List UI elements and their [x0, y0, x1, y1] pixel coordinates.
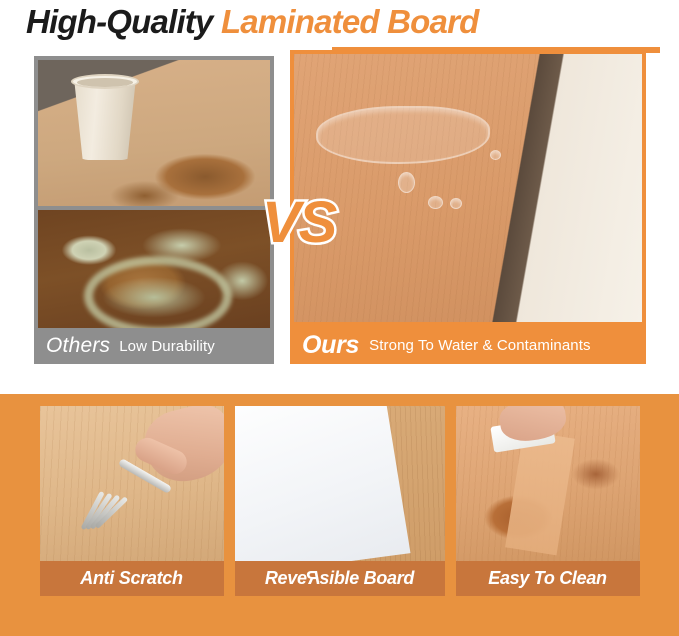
wood-surface-art	[294, 54, 642, 322]
feature-label-text: ReveRsible Board	[265, 568, 414, 589]
paper-cup-body	[74, 78, 136, 160]
water-bead-icon	[490, 150, 501, 160]
white-board-art	[235, 406, 411, 561]
others-label-bar: Others Low Durability	[34, 328, 274, 364]
feature-label-text: Anti Scratch	[80, 568, 182, 589]
page-title-primary: High-Quality	[26, 3, 213, 40]
page-title: High-Quality Laminated Board	[26, 2, 479, 42]
ours-label-strong: Ours	[302, 331, 359, 360]
water-bead-icon	[398, 172, 415, 193]
paper-cup-inner	[77, 78, 133, 87]
title-bar: High-Quality Laminated Board	[0, 0, 679, 56]
feature-label-anti-scratch: Anti Scratch	[40, 561, 224, 596]
mold-damage-photo	[38, 210, 270, 328]
feature-label-easy-to-clean: Easy To Clean	[456, 561, 640, 596]
fork-scratch-photo	[40, 406, 224, 561]
others-label-sub: Low Durability	[119, 338, 215, 355]
mirrored-r-glyph: R	[307, 568, 320, 589]
feature-card-anti-scratch: Anti Scratch	[40, 406, 224, 596]
others-label-strong: Others	[46, 334, 110, 358]
feature-card-list: Anti Scratch ReveRsible Board Easy To Cl…	[0, 406, 679, 596]
vs-badge: VS	[262, 194, 335, 252]
ours-panel: Ours Strong To Water & Contaminants	[290, 50, 646, 364]
feature-label-reversible-board: ReveRsible Board	[235, 561, 445, 596]
feature-card-easy-to-clean: Easy To Clean	[456, 406, 640, 596]
feature-label-text: Easy To Clean	[488, 568, 606, 589]
water-beading-photo	[294, 54, 642, 322]
comparison-section: Others Low Durability VS Ours Strong To …	[0, 56, 679, 394]
feature-label-part-after: sible Board	[319, 568, 414, 588]
features-band: Anti Scratch ReveRsible Board Easy To Cl…	[0, 394, 679, 636]
ours-label-sub: Strong To Water & Contaminants	[369, 337, 590, 354]
wipe-clean-photo	[456, 406, 640, 561]
reversible-board-photo	[235, 406, 445, 561]
paper-cup-spill-photo	[38, 60, 270, 206]
feature-card-reversible-board: ReveRsible Board	[235, 406, 445, 596]
water-bead-icon	[428, 196, 443, 209]
ours-label-bar: Ours Strong To Water & Contaminants	[290, 326, 646, 364]
page-title-accent: Laminated Board	[221, 3, 479, 40]
water-bead-icon	[450, 198, 462, 209]
feature-label-part-before: Reve	[265, 568, 307, 588]
others-panel: Others Low Durability	[34, 56, 274, 364]
mold-ring-art	[84, 256, 232, 328]
